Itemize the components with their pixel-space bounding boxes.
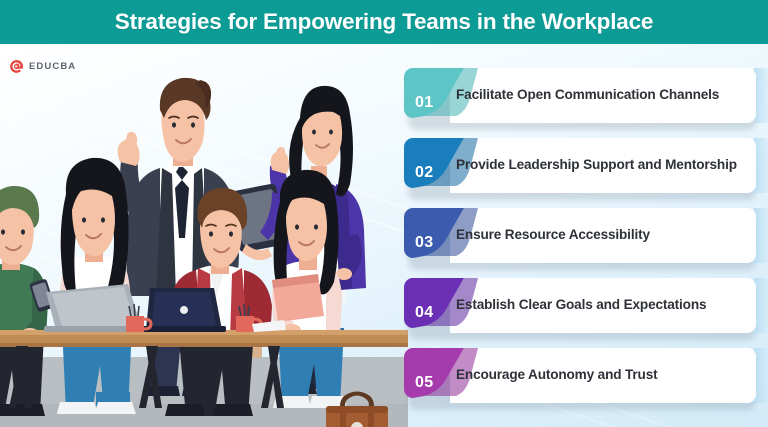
educba-mark-icon <box>9 59 24 74</box>
card-edge-accent <box>754 278 768 333</box>
card-edge-accent <box>754 208 768 263</box>
page-header: Strategies for Empowering Teams in the W… <box>0 0 768 44</box>
team-illustration <box>0 44 408 427</box>
card-edge-accent <box>754 68 768 123</box>
item-number: 01 <box>415 95 434 111</box>
educba-logo-text: EDUCBA <box>29 61 76 72</box>
list-item[interactable]: 01 Facilitate Open Communication Channel… <box>404 68 756 126</box>
item-number: 02 <box>415 165 434 181</box>
list-item[interactable]: 02 Provide Leadership Support and Mentor… <box>404 138 756 196</box>
item-label: Ensure Resource Accessibility <box>456 208 744 263</box>
infographic-canvas: EDUCBA <box>0 44 768 427</box>
item-label: Encourage Autonomy and Trust <box>456 348 744 403</box>
list-item[interactable]: 04 Establish Clear Goals and Expectation… <box>404 278 756 336</box>
list-item[interactable]: 05 Encourage Autonomy and Trust <box>404 348 756 406</box>
item-number: 05 <box>415 375 434 391</box>
card-edge-accent <box>754 348 768 403</box>
card-edge-accent <box>754 138 768 193</box>
item-number: 04 <box>415 305 434 321</box>
page-title: Strategies for Empowering Teams in the W… <box>115 9 653 35</box>
item-label: Facilitate Open Communication Channels <box>456 68 744 123</box>
list-item[interactable]: 03 Ensure Resource Accessibility <box>404 208 756 266</box>
team-illustration-svg <box>0 44 408 427</box>
item-label: Provide Leadership Support and Mentorshi… <box>456 138 744 193</box>
item-number: 03 <box>415 235 434 251</box>
educba-logo[interactable]: EDUCBA <box>9 59 76 74</box>
item-label: Establish Clear Goals and Expectations <box>456 278 744 333</box>
strategy-list: 01 Facilitate Open Communication Channel… <box>404 68 768 416</box>
